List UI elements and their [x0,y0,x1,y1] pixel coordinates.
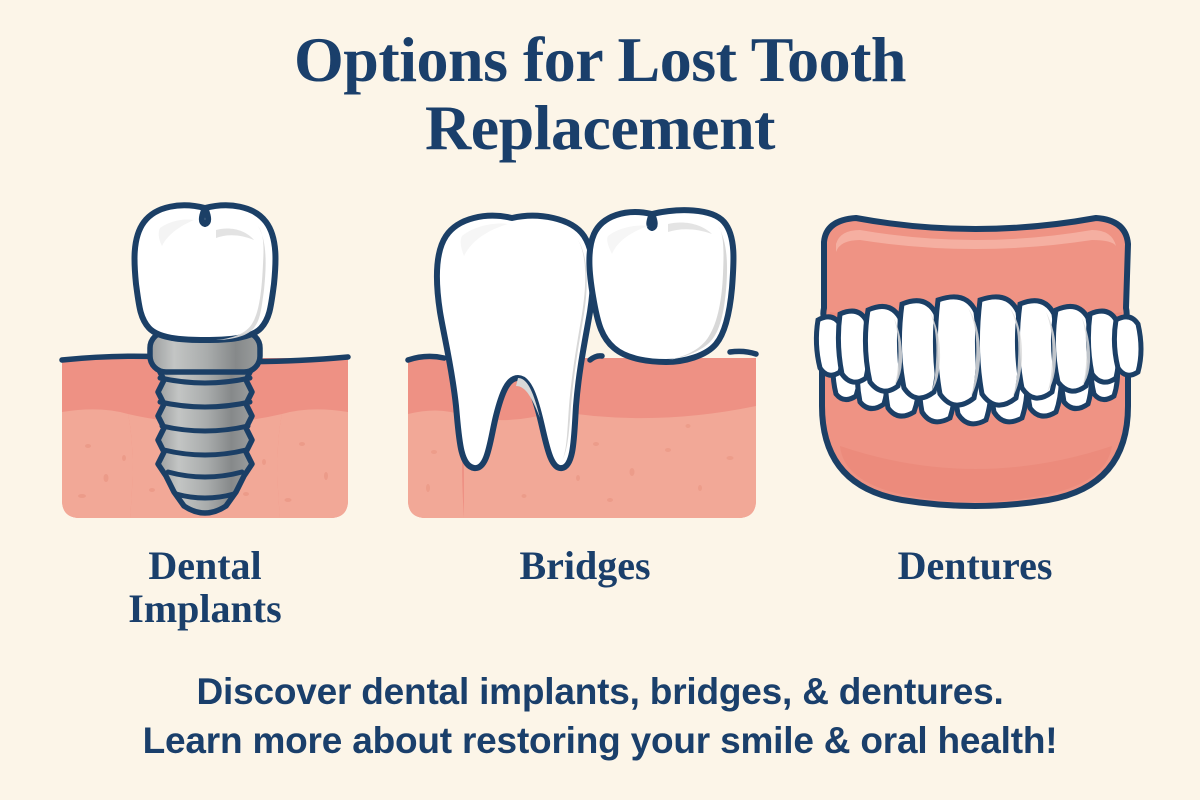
illustration-dentures [790,200,1160,540]
caption-dental-implants-line-1: Dental [55,544,355,587]
tagline-line-2: Learn more about restoring your smile & … [0,717,1200,766]
caption-dental-implants-line-2: Implants [55,587,355,630]
caption-dentures: Dentures [790,544,1160,587]
page-title-line-2: Replacement [0,94,1200,162]
infographic-canvas: Options for Lost Tooth Replacement [0,0,1200,800]
caption-dentures-line-1: Dentures [790,544,1160,587]
illustration-dental-implant [40,200,370,540]
tagline: Discover dental implants, bridges, & den… [0,668,1200,766]
bridge-pontic-crown [589,210,733,362]
tagline-line-1: Discover dental implants, bridges, & den… [0,668,1200,717]
page-title: Options for Lost Tooth Replacement [0,26,1200,163]
page-title-line-1: Options for Lost Tooth [0,26,1200,94]
caption-dental-implants: Dental Implants [55,544,355,630]
illustration-bridges [400,200,770,540]
caption-bridges: Bridges [400,544,770,587]
caption-bridges-line-1: Bridges [400,544,770,587]
implant-crown [134,205,275,340]
bridge-gum-line-right [730,351,756,354]
